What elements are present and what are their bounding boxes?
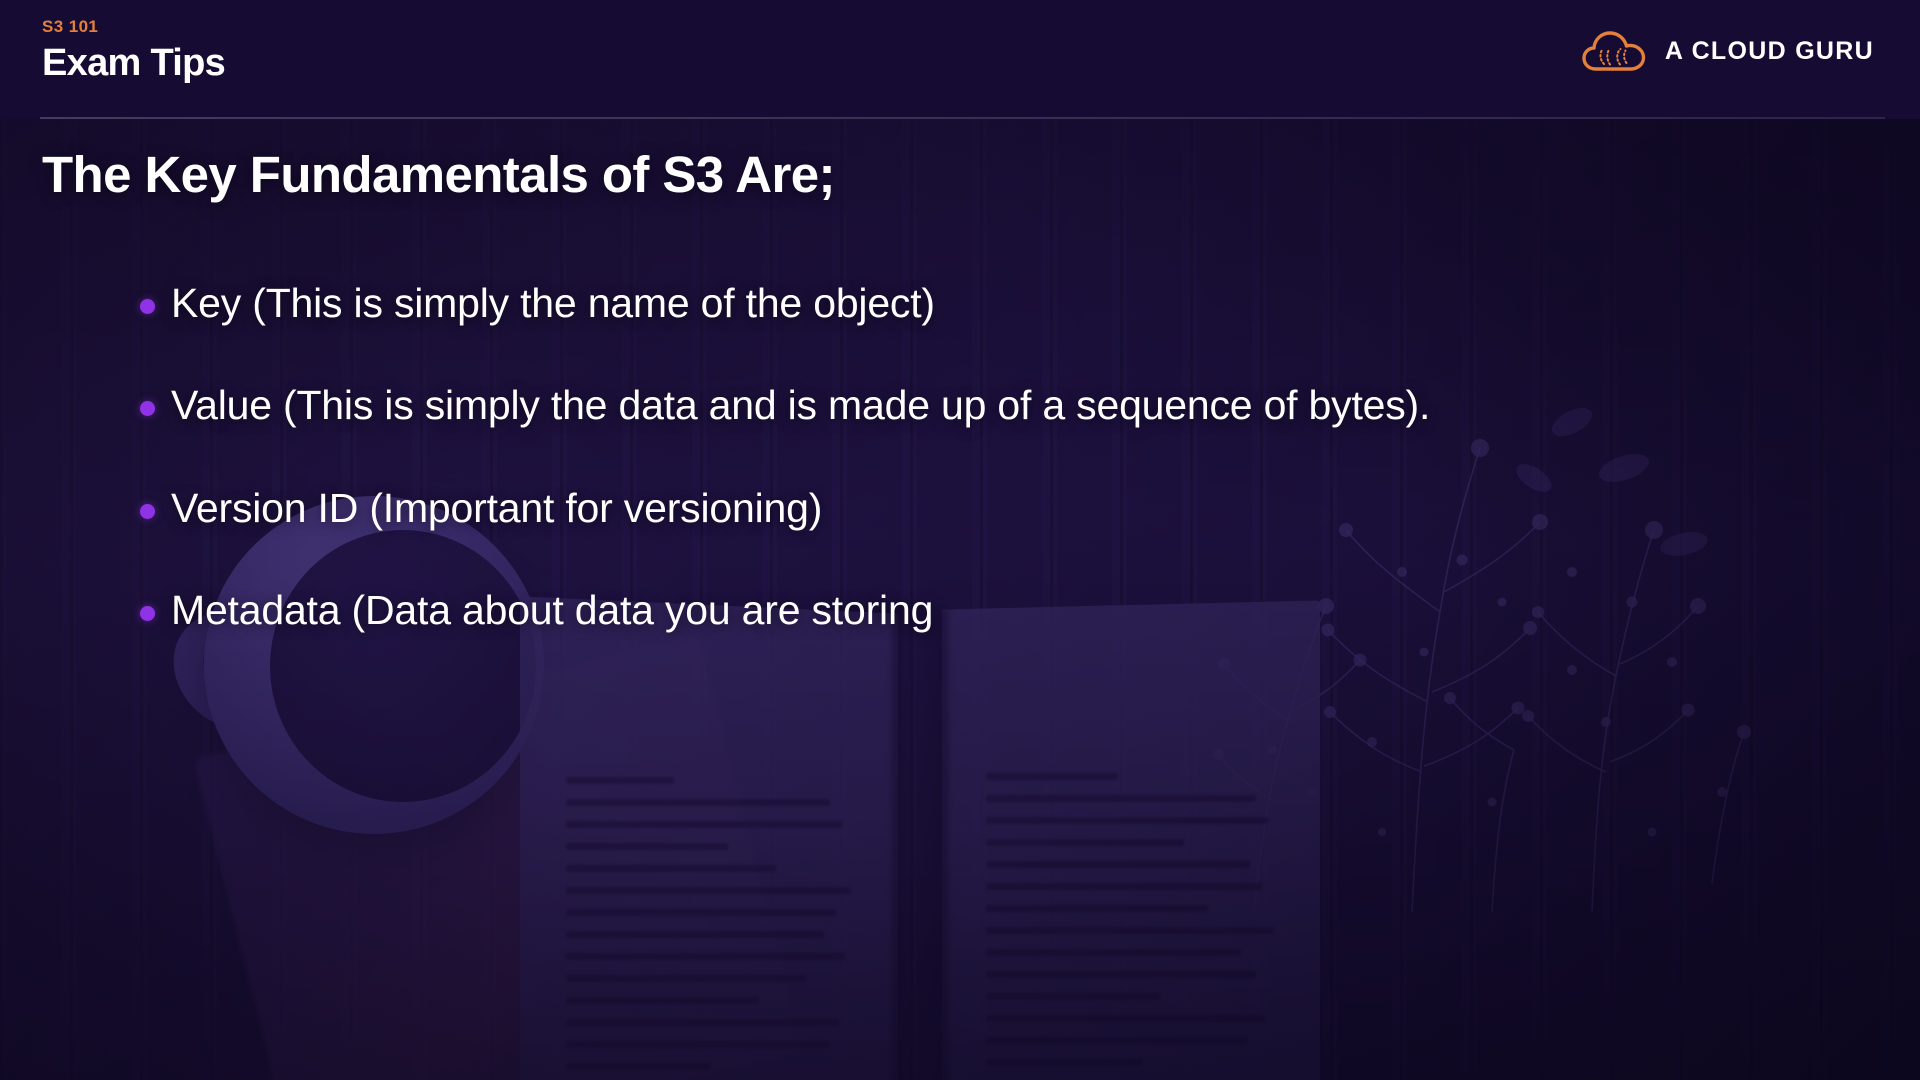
list-item-label: Value (This is simply the data and is ma… [171,381,1430,429]
slide-content: The Key Fundamentals of S3 Are; Key (Thi… [0,119,1920,1080]
list-item-label: Version ID (Important for versioning) [171,484,822,532]
header-divider [40,117,1885,119]
header-title-block: S3 101 Exam Tips [42,18,225,84]
presentation-slide: S3 101 Exam Tips A CLOUD GURU The Key Fu… [0,0,1920,1080]
list-item-label: Metadata (Data about data you are storin… [171,586,933,634]
list-item: Key (This is simply the name of the obje… [140,279,1880,327]
cloud-outline-icon [1582,30,1648,72]
bullet-dot-icon [140,606,155,621]
bullet-dot-icon [140,504,155,519]
page-title: Exam Tips [42,44,225,84]
bullet-dot-icon [140,299,155,314]
list-item-label: Key (This is simply the name of the obje… [171,279,935,327]
brand-name-label: A CLOUD GURU [1665,37,1874,66]
list-item: Metadata (Data about data you are storin… [140,586,1880,634]
list-item: Value (This is simply the data and is ma… [140,381,1880,429]
course-code-label: S3 101 [42,18,225,35]
bullet-list: Key (This is simply the name of the obje… [140,279,1880,689]
brand-logo: A CLOUD GURU [1582,30,1874,72]
slide-header-bar: S3 101 Exam Tips A CLOUD GURU [0,0,1920,119]
bullet-dot-icon [140,401,155,416]
list-item: Version ID (Important for versioning) [140,484,1880,532]
slide-heading: The Key Fundamentals of S3 Are; [42,145,835,204]
